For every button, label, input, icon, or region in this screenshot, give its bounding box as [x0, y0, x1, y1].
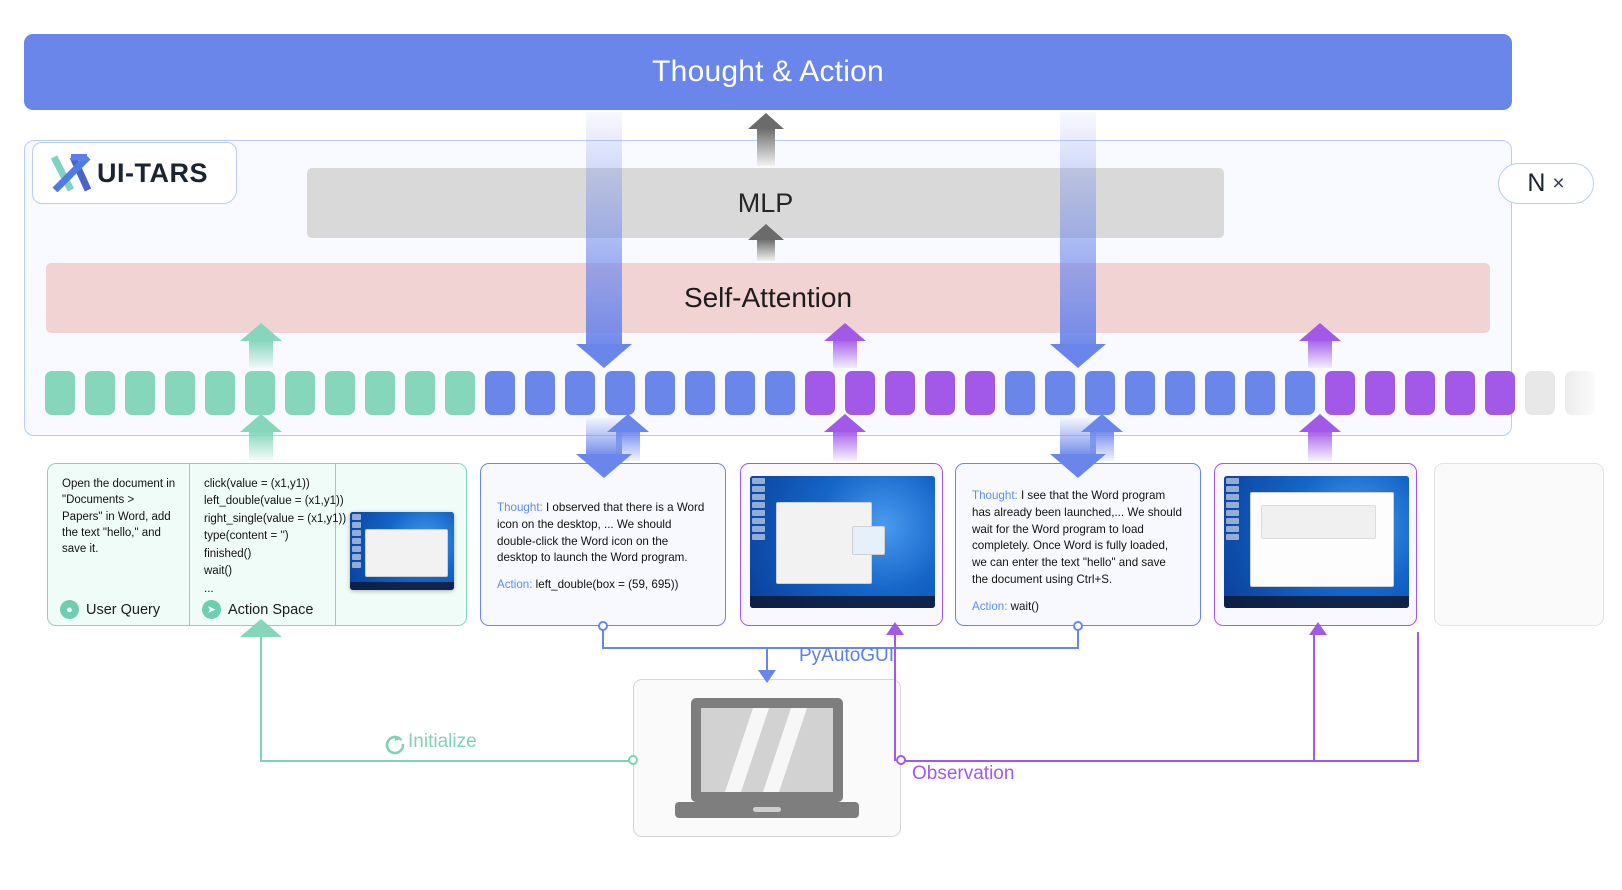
token: [1205, 371, 1235, 415]
token: [45, 371, 75, 415]
observation-arrowhead-1: [886, 622, 904, 635]
action-text: left_double(box = (59, 695)): [532, 578, 678, 591]
action-key: Action:: [972, 600, 1007, 613]
action-space-column: click(value = (x1,y1)) left_double(value…: [190, 464, 336, 625]
taskbar: [350, 582, 454, 589]
token: [1045, 371, 1075, 415]
pyautogui-label: PyAutoGUI: [799, 645, 894, 667]
token: [285, 371, 315, 415]
desktop-icons: [1226, 478, 1239, 592]
initialize-riser: [260, 636, 262, 761]
action-line: type(content = ''): [204, 528, 323, 545]
thought-key: Thought:: [497, 501, 543, 514]
token: [525, 371, 555, 415]
token: [885, 371, 915, 415]
token: [725, 371, 755, 415]
step-2-output-connector: [1077, 630, 1079, 648]
mlp-label: MLP: [738, 188, 794, 219]
step-1-body: Thought: I observed that there is a Word…: [481, 464, 725, 591]
token: [125, 371, 155, 415]
observation-arrowhead-2: [1309, 622, 1327, 635]
token: [205, 371, 235, 415]
step-2-connector-dot: [1073, 621, 1083, 631]
token: [1565, 371, 1595, 415]
observation-2-panel: [1214, 463, 1417, 626]
token: [85, 371, 115, 415]
environment-box: [633, 679, 901, 837]
action-line: wait(): [204, 563, 323, 580]
output-to-token-band-1: [586, 112, 622, 346]
logo-text: UI-TARS: [97, 158, 208, 189]
token: [1365, 371, 1395, 415]
repeat-count-badge: N ×: [1498, 163, 1594, 204]
action-space-label: Action Space: [228, 602, 313, 618]
user-query-label: User Query: [86, 602, 160, 618]
token: [685, 371, 715, 415]
step-1-output-connector: [602, 630, 604, 648]
observation-label: Observation: [912, 763, 1014, 785]
token: [245, 371, 275, 415]
token: [805, 371, 835, 415]
x-mark-icon: [51, 154, 91, 192]
query-to-token-band: [249, 431, 273, 461]
obs1-to-token-band: [833, 431, 857, 461]
token: [845, 371, 875, 415]
token: [165, 371, 195, 415]
self-attention-label: Self-Attention: [684, 282, 852, 314]
token-to-attention-band-purple-2: [1308, 340, 1332, 368]
token: [1085, 371, 1115, 415]
desktop-icons: [752, 478, 765, 592]
step-1-thought-panel: Thought: I observed that there is a Word…: [480, 463, 726, 626]
observation-tap-right: [1313, 760, 1419, 762]
token: [445, 371, 475, 415]
token: [605, 371, 635, 415]
action-line: right_single(value = (x1,y1)): [204, 511, 323, 528]
token: [1325, 371, 1355, 415]
user-query-column: Open the document in "Documents > Papers…: [48, 464, 190, 625]
token: [405, 371, 435, 415]
token: [325, 371, 355, 415]
step-2-thought-panel: Thought: I see that the Word program has…: [955, 463, 1201, 626]
action-space-footer: ➤ Action Space: [202, 600, 313, 619]
thought-action-banner: Thought & Action: [24, 34, 1512, 110]
token: [1445, 371, 1475, 415]
token: [565, 371, 595, 415]
taskbar: [1224, 596, 1409, 608]
taskbar: [750, 596, 935, 608]
observation-riser-2: [1417, 632, 1419, 761]
token: [1285, 371, 1315, 415]
pyautogui-bus-left: [602, 647, 767, 649]
banner-title: Thought & Action: [652, 55, 884, 89]
diagram-canvas: Thought & Action UI-TARS N × MLP Self-At…: [0, 0, 1622, 890]
initialize-bus: [260, 760, 635, 762]
next-step-placeholder-panel: [1434, 463, 1604, 626]
step-2-body: Thought: I see that the Word program has…: [956, 464, 1200, 613]
token: [1005, 371, 1035, 415]
token-to-attention-band-purple-1: [833, 340, 857, 368]
user-icon: ●: [60, 600, 79, 619]
desktop-screenshot-step-1: [750, 476, 935, 608]
initial-screenshot-column: [336, 464, 466, 625]
initialize-target-dot: [628, 755, 638, 765]
repeat-count-n: N: [1527, 169, 1545, 198]
observation-riser-3: [1313, 632, 1315, 761]
token-sequence: [45, 371, 1495, 416]
token: [1125, 371, 1155, 415]
token: [965, 371, 995, 415]
input-panel: Open the document in "Documents > Papers…: [47, 463, 467, 626]
action-line: ...: [204, 581, 323, 598]
desktop-screenshot: [350, 512, 454, 590]
thought-key: Thought:: [972, 489, 1018, 502]
ui-tars-logo-chip: UI-TARS: [32, 142, 237, 204]
user-query-footer: ● User Query: [60, 600, 160, 619]
token-to-step1-band: [586, 418, 622, 456]
output-to-token-band-2: [1060, 112, 1096, 346]
step-1-connector-dot: [598, 621, 608, 631]
step-2-thought: Thought: I see that the Word program has…: [972, 488, 1184, 589]
obs2-to-token-band: [1308, 431, 1332, 461]
pyautogui-arrowhead: [758, 670, 776, 683]
step-2-action: Action: wait(): [972, 600, 1184, 613]
step-1-action: Action: left_double(box = (59, 695)): [497, 578, 709, 591]
laptop-icon: [667, 698, 867, 824]
token-to-step2-band: [1060, 418, 1096, 456]
action-line: finished(): [204, 546, 323, 563]
word-document-screenshot-step-2: [1224, 476, 1409, 608]
attention-to-mlp-arrow: [757, 239, 775, 261]
token: [1525, 371, 1555, 415]
action-text: wait(): [1007, 600, 1039, 613]
token: [1405, 371, 1435, 415]
send-icon: ➤: [202, 600, 221, 619]
token-to-attention-band-green: [249, 340, 273, 368]
initialize-label: Initialize: [408, 731, 477, 753]
token: [365, 371, 395, 415]
action-key: Action:: [497, 578, 532, 591]
refresh-icon: [382, 732, 408, 758]
action-line: left_double(value = (x1,y1)): [204, 493, 323, 510]
user-query-text: Open the document in "Documents > Papers…: [62, 476, 177, 558]
token: [1245, 371, 1275, 415]
desktop-icons: [352, 514, 361, 581]
token: [645, 371, 675, 415]
token: [925, 371, 955, 415]
observation-1-panel: [740, 463, 943, 626]
mlp-to-output-arrow: [757, 128, 775, 166]
thought-text: I see that the Word program has already …: [972, 489, 1182, 586]
observation-riser-1: [894, 632, 896, 761]
action-line: click(value = (x1,y1)): [204, 476, 323, 493]
observation-source-dot: [896, 755, 906, 765]
token: [1485, 371, 1515, 415]
step-1-thought: Thought: I observed that there is a Word…: [497, 500, 709, 567]
token: [1165, 371, 1195, 415]
token: [765, 371, 795, 415]
repeat-count-multiplier: ×: [1552, 172, 1564, 196]
token: [485, 371, 515, 415]
